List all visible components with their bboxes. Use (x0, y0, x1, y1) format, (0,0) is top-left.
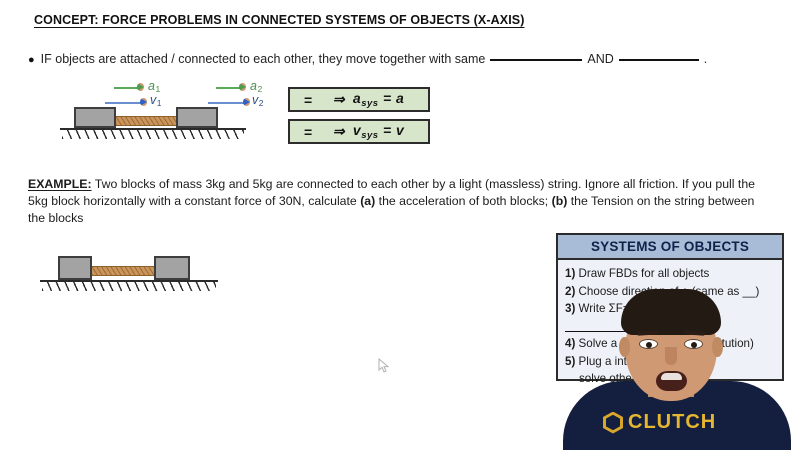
systems-step-1: 1) Draw FBDs for all objects (565, 265, 782, 283)
presenter-ear-left (619, 337, 630, 357)
eq-lhs-2: v (353, 122, 361, 138)
presenter-video-overlay: CLUTCH (545, 285, 800, 450)
velocity-label-2: v2 (252, 94, 263, 108)
equation-box-acceleration: = ⇒ asys = a (288, 87, 430, 112)
presenter-figure: CLUTCH (545, 285, 800, 450)
block-right-bottom (154, 256, 190, 280)
eq-equals-2: = (304, 124, 313, 140)
bullet-conjunction: AND (587, 52, 613, 66)
example-label: EXAMPLE: (28, 177, 92, 191)
hexagon-icon (603, 412, 623, 434)
clutch-logo: CLUTCH (603, 411, 716, 434)
eq-lhs-1: a (353, 90, 361, 106)
velocity-label-1: v1 (150, 94, 161, 108)
connected-blocks-diagram-bottom (40, 252, 230, 304)
clutch-logo-text: CLUTCH (628, 411, 716, 434)
presenter-eye-left (639, 339, 658, 349)
connecting-rope-top (116, 116, 176, 126)
block-left-top (74, 107, 116, 128)
example-part-2: the acceleration of both blocks; (375, 194, 551, 208)
concept-bullet-line: ● IF objects are attached / connected to… (28, 52, 707, 66)
lecture-slide: CONCEPT: FORCE PROBLEMS IN CONNECTED SYS… (0, 0, 800, 450)
systems-panel-header: SYSTEMS OF OBJECTS (558, 235, 782, 260)
eq-implies-1: ⇒ (333, 91, 345, 108)
connected-blocks-diagram-top: a1 a2 v1 v2 (60, 78, 280, 146)
eq-rhs-1: = a (383, 90, 404, 106)
presenter-ear-right (712, 337, 723, 357)
acceleration-label-2: a2 (250, 80, 262, 94)
equation-box-velocity: = ⇒ vsys = v (288, 119, 430, 144)
page-title: CONCEPT: FORCE PROBLEMS IN CONNECTED SYS… (34, 13, 524, 27)
bullet-period: . (704, 52, 707, 66)
example-bold-a: (a) (360, 194, 375, 208)
eq-sub-2: sys (361, 130, 378, 141)
ground-hatching-bottom (42, 281, 216, 291)
ground-hatching-top (62, 129, 244, 139)
presenter-eye-right (684, 339, 703, 349)
eq-implies-2: ⇒ (333, 123, 345, 140)
eq-sub-1: sys (361, 98, 378, 109)
fill-blank-2[interactable] (619, 59, 699, 61)
fill-blank-1[interactable] (490, 59, 582, 61)
presenter-nose (665, 347, 677, 365)
eq-rhs-2: = v (383, 122, 404, 138)
eq-equals-1: = (304, 92, 313, 108)
bullet-text: IF objects are attached / connected to e… (41, 52, 486, 66)
presenter-hair (621, 289, 721, 335)
mouse-cursor-icon (378, 358, 390, 374)
example-bold-b: (b) (552, 194, 568, 208)
block-left-bottom (58, 256, 92, 280)
presenter-mouth (656, 371, 687, 391)
block-right-top (176, 107, 218, 128)
acceleration-label-1: a1 (148, 80, 160, 94)
example-problem-text: EXAMPLE: Two blocks of mass 3kg and 5kg … (28, 176, 766, 227)
bullet-dot-icon: ● (28, 55, 35, 66)
connecting-rope-bottom (92, 266, 154, 276)
